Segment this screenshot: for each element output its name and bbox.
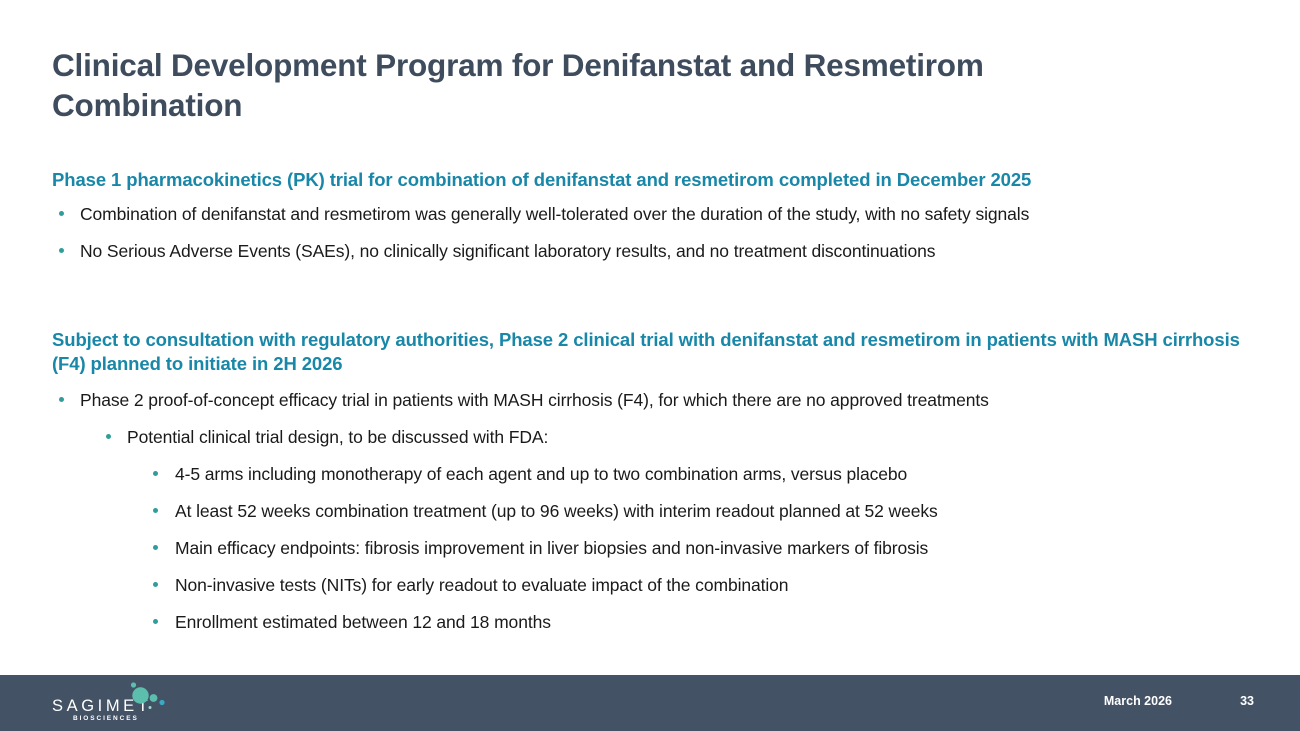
slide-footer: SAGIMET BIOSCIENCES March 2026 33 — [0, 675, 1300, 731]
sagimet-logo: SAGIMET BIOSCIENCES — [52, 684, 232, 726]
list-item-text: Non-invasive tests (NITs) for early read… — [175, 575, 788, 595]
page-title: Clinical Development Program for Denifan… — [52, 45, 1102, 125]
section-2-heading: Subject to consultation with regulatory … — [52, 328, 1257, 376]
list-item: Enrollment estimated between 12 and 18 m… — [52, 610, 1257, 634]
list-item-text: Potential clinical trial design, to be d… — [127, 427, 548, 447]
level-3-list: 4-5 arms including monotherapy of each a… — [52, 462, 1257, 634]
section-2-heading-line1: Subject to consultation with regulatory … — [52, 329, 1057, 350]
bullet-dot-icon — [153, 471, 158, 476]
section-1-heading: Phase 1 pharmacokinetics (PK) trial for … — [52, 168, 1257, 192]
bullet-dot-icon — [153, 508, 158, 513]
list-item: 4-5 arms including monotherapy of each a… — [52, 462, 1257, 486]
footer-page-number: 33 — [1240, 694, 1254, 708]
list-item: Combination of denifanstat and resmetiro… — [52, 202, 1257, 226]
list-item-text: Enrollment estimated between 12 and 18 m… — [175, 612, 551, 632]
bullet-dot-icon — [59, 397, 64, 402]
list-item: At least 52 weeks combination treatment … — [52, 499, 1257, 523]
list-item: Non-invasive tests (NITs) for early read… — [52, 573, 1257, 597]
slide-content: Phase 1 pharmacokinetics (PK) trial for … — [52, 168, 1257, 647]
slide-canvas: Clinical Development Program for Denifan… — [0, 0, 1300, 731]
logo-subtext: BIOSCIENCES — [73, 715, 139, 722]
bullet-dot-icon — [153, 582, 158, 587]
list-item: Phase 2 proof-of-concept efficacy trial … — [52, 388, 1257, 412]
sagimet-dots-icon — [120, 681, 178, 715]
bullet-dot-icon — [106, 434, 111, 439]
list-item: Main efficacy endpoints: fibrosis improv… — [52, 536, 1257, 560]
list-item-text: 4-5 arms including monotherapy of each a… — [175, 464, 907, 484]
list-item: Potential clinical trial design, to be d… — [52, 425, 1257, 449]
bullet-dot-icon — [153, 619, 158, 624]
section-spacer — [52, 276, 1257, 328]
bullet-dot-icon — [153, 545, 158, 550]
bullet-dot-icon — [59, 248, 64, 253]
footer-date: March 2026 — [1104, 694, 1172, 708]
list-item-text: Phase 2 proof-of-concept efficacy trial … — [80, 390, 989, 410]
list-item-text: At least 52 weeks combination treatment … — [175, 501, 938, 521]
list-item: No Serious Adverse Events (SAEs), no cli… — [52, 239, 1257, 263]
bullet-dot-icon — [59, 211, 64, 216]
list-item-text: No Serious Adverse Events (SAEs), no cli… — [80, 241, 935, 261]
list-item-text: Main efficacy endpoints: fibrosis improv… — [175, 538, 928, 558]
list-item-text: Combination of denifanstat and resmetiro… — [80, 204, 1029, 224]
